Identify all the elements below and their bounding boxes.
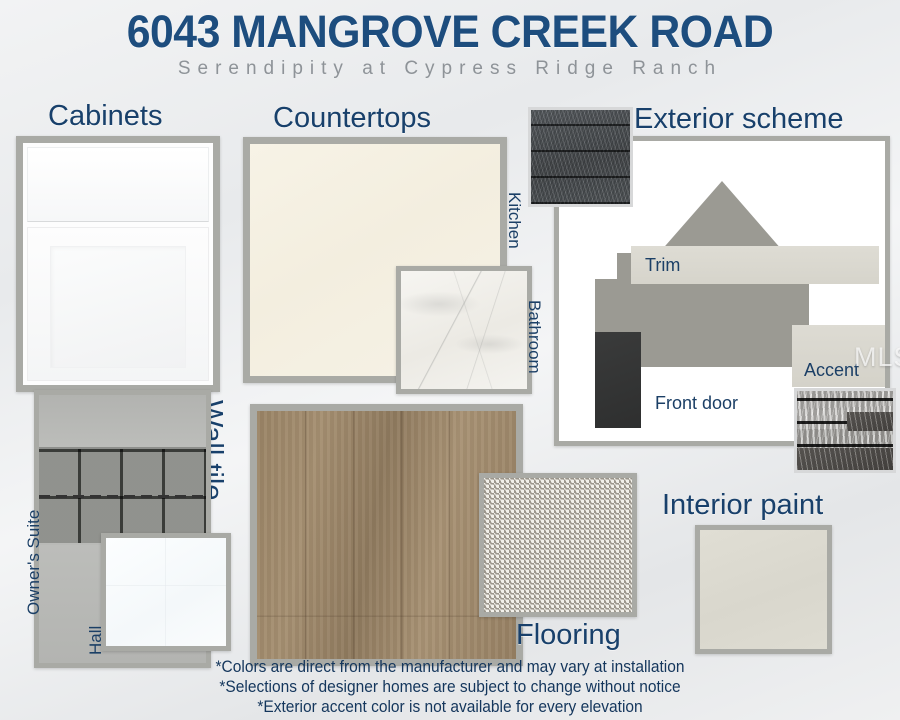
roof-shingle-swatch bbox=[528, 107, 633, 207]
stone-dark-block-b bbox=[797, 448, 893, 470]
bathroom-label: Bathroom bbox=[524, 300, 544, 374]
flooring-carpet-swatch bbox=[479, 473, 637, 617]
front-door-swatch bbox=[595, 332, 641, 428]
selection-board: 6043 MANGROVE CREEK ROAD Serendipity at … bbox=[0, 0, 900, 720]
cabinet-recessed-panel bbox=[50, 246, 186, 368]
owners-suite-label: Owner's Suite bbox=[24, 510, 44, 615]
tile-dashed-line bbox=[39, 495, 206, 498]
countertops-heading: Countertops bbox=[273, 102, 431, 135]
disclaimer-line-3: *Exterior accent color is not available … bbox=[27, 697, 873, 717]
exterior-scheme-heading: Exterior scheme bbox=[634, 103, 844, 136]
page-title: 6043 MANGROVE CREEK ROAD bbox=[23, 6, 878, 58]
tile-top-band bbox=[39, 395, 206, 449]
cabinet-door-front bbox=[27, 227, 209, 381]
wall-tile-hall-swatch bbox=[101, 533, 231, 651]
interior-paint-swatch bbox=[695, 525, 832, 654]
page-subtitle: Serendipity at Cypress Ridge Ranch bbox=[0, 58, 900, 80]
stone-dark-block-a bbox=[847, 412, 893, 431]
exterior-accent-stone-swatch bbox=[794, 388, 896, 473]
interior-paint-heading: Interior paint bbox=[662, 489, 823, 522]
disclaimer-line-1: *Colors are direct from the manufacturer… bbox=[27, 657, 873, 677]
flooring-heading: Flooring bbox=[516, 619, 621, 652]
disclaimer-line-2: *Selections of designer homes are subjec… bbox=[27, 677, 873, 697]
accent-band: Accent bbox=[792, 325, 885, 387]
kitchen-label: Kitchen bbox=[504, 192, 524, 249]
disclaimer-block: *Colors are direct from the manufacturer… bbox=[0, 657, 900, 717]
hall-label: Hall bbox=[86, 626, 106, 655]
trim-label: Trim bbox=[631, 255, 680, 276]
cabinet-drawer-front bbox=[27, 147, 209, 222]
cabinet-swatch bbox=[16, 136, 220, 392]
front-door-label: Front door bbox=[655, 393, 738, 414]
accent-label: Accent bbox=[792, 360, 859, 387]
cabinets-heading: Cabinets bbox=[48, 100, 162, 133]
trim-band: Trim bbox=[631, 246, 879, 284]
countertop-bathroom-swatch bbox=[396, 266, 532, 394]
